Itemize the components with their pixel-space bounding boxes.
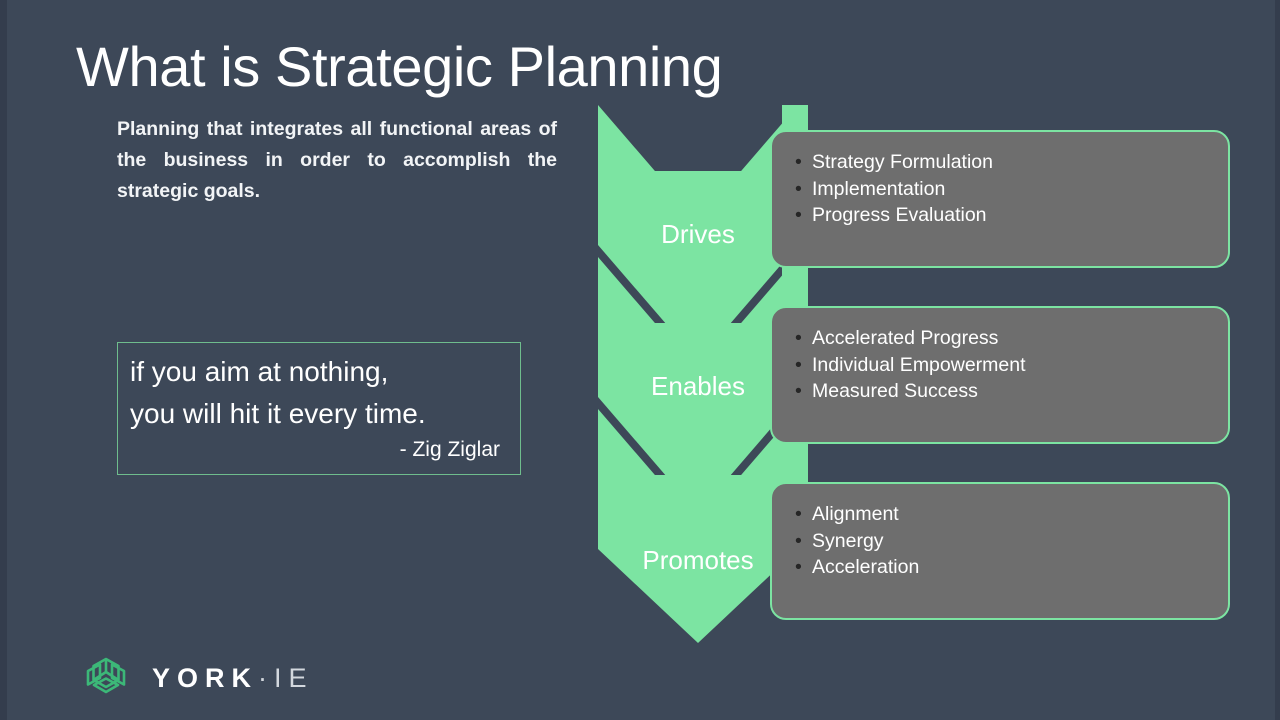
list-item-label: Individual Empowerment bbox=[812, 354, 1026, 376]
chevron-label-drives: Drives bbox=[598, 219, 798, 249]
list-item: •Progress Evaluation bbox=[794, 202, 1206, 229]
definition-paragraph: Planning that integrates all functional … bbox=[117, 114, 557, 207]
logo-wordmark: YORK·IE bbox=[152, 663, 314, 694]
page-title: What is Strategic Planning bbox=[76, 34, 722, 100]
chevron-label-enables: Enables bbox=[598, 371, 798, 401]
list-item: •Accelerated Progress bbox=[794, 325, 1206, 352]
list-item-label: Accelerated Progress bbox=[812, 327, 998, 349]
outcome-box-1: •Strategy Formulation •Implementation •P… bbox=[770, 130, 1230, 268]
outcome-list-1: •Strategy Formulation •Implementation •P… bbox=[794, 149, 1206, 229]
list-item: •Individual Empowerment bbox=[794, 352, 1206, 379]
bullet-icon: • bbox=[795, 325, 802, 352]
bullet-icon: • bbox=[795, 352, 802, 379]
list-item-label: Acceleration bbox=[812, 556, 919, 578]
list-item: •Synergy bbox=[794, 528, 1206, 555]
chevron-label-promotes: Promotes bbox=[598, 545, 798, 575]
bullet-icon: • bbox=[795, 378, 802, 405]
outcome-box-2: •Accelerated Progress •Individual Empowe… bbox=[770, 306, 1230, 444]
list-item-label: Alignment bbox=[812, 503, 899, 525]
list-item-label: Measured Success bbox=[812, 380, 978, 402]
outcome-list-3: •Alignment •Synergy •Acceleration bbox=[794, 501, 1206, 581]
bullet-icon: • bbox=[795, 528, 802, 555]
outcome-box-3: •Alignment •Synergy •Acceleration bbox=[770, 482, 1230, 620]
outcome-list-2: •Accelerated Progress •Individual Empowe… bbox=[794, 325, 1206, 405]
list-item-label: Strategy Formulation bbox=[812, 151, 993, 173]
bullet-icon: • bbox=[795, 149, 802, 176]
flow-diagram: Drives Enables Promotes •Strategy Formul… bbox=[560, 95, 1260, 650]
list-item: •Implementation bbox=[794, 176, 1206, 203]
right-edge-strip bbox=[1275, 0, 1280, 720]
bullet-icon: • bbox=[795, 176, 802, 203]
logo-word-ie: IE bbox=[274, 663, 314, 693]
quote-box: if you aim at nothing, you will hit it e… bbox=[117, 342, 521, 475]
logo-word-york: YORK bbox=[152, 663, 258, 693]
list-item-label: Implementation bbox=[812, 178, 945, 200]
left-edge-strip bbox=[0, 0, 7, 720]
bullet-icon: • bbox=[795, 501, 802, 528]
quote-text: if you aim at nothing, you will hit it e… bbox=[130, 351, 506, 435]
brand-logo: YORK·IE bbox=[82, 655, 314, 701]
logo-separator: · bbox=[258, 663, 274, 693]
list-item: •Acceleration bbox=[794, 554, 1206, 581]
slide-canvas: What is Strategic Planning Planning that… bbox=[0, 0, 1280, 720]
list-item: •Strategy Formulation bbox=[794, 149, 1206, 176]
list-item: •Measured Success bbox=[794, 378, 1206, 405]
york-ie-knot-icon bbox=[82, 655, 130, 701]
list-item-label: Progress Evaluation bbox=[812, 204, 987, 226]
list-item-label: Synergy bbox=[812, 530, 884, 552]
list-item: •Alignment bbox=[794, 501, 1206, 528]
bullet-icon: • bbox=[795, 202, 802, 229]
quote-author: - Zig Ziglar bbox=[130, 437, 506, 463]
bullet-icon: • bbox=[795, 554, 802, 581]
